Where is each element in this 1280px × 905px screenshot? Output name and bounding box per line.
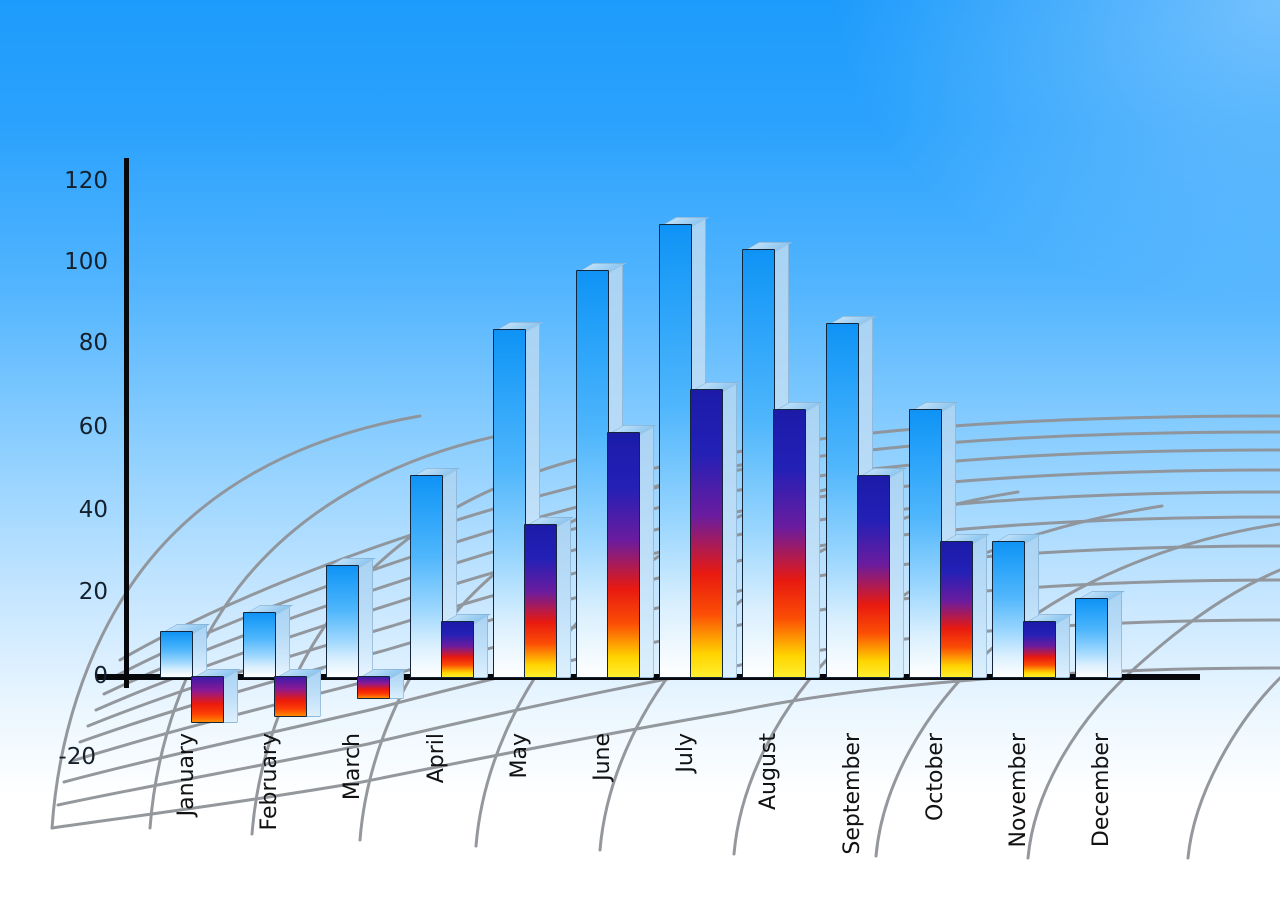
bar-front-face: [160, 631, 193, 678]
bar-may-series2[interactable]: [524, 524, 555, 676]
bar-october-series1[interactable]: [909, 409, 940, 676]
bar-may-series1[interactable]: [493, 329, 524, 676]
bar-july-series2[interactable]: [690, 389, 721, 676]
bar-front-face: [191, 676, 224, 723]
chart-canvas: 120 100 80 60 40 20 0 -20 JanuaryFebruar…: [0, 0, 1280, 905]
bar-front-face: [992, 541, 1025, 678]
bar-front-face: [274, 676, 307, 717]
bar-july-series1[interactable]: [659, 224, 690, 676]
y-tick-label-80: 80: [42, 330, 108, 356]
bar-june-series1[interactable]: [576, 270, 607, 676]
bar-front-face: [410, 475, 443, 678]
y-tick-label-40: 40: [42, 497, 108, 523]
y-tick-label-100: 100: [42, 249, 108, 275]
bar-front-face: [441, 621, 474, 678]
bar-november-series1[interactable]: [992, 541, 1023, 676]
bar-front-face: [857, 475, 890, 678]
bar-front-face: [773, 409, 806, 678]
bar-august-series1[interactable]: [742, 249, 773, 676]
bar-front-face: [1023, 621, 1056, 678]
bar-april-series2[interactable]: [441, 621, 472, 676]
y-tick-label-120: 120: [42, 168, 108, 194]
category-label-february: February: [257, 733, 282, 831]
bar-front-face: [742, 249, 775, 678]
bar-front-face: [909, 409, 942, 678]
bar-front-face: [1075, 598, 1108, 678]
bar-december-series1[interactable]: [1075, 598, 1106, 676]
bar-front-face: [326, 565, 359, 678]
category-label-may: May: [507, 733, 532, 778]
bar-front-face: [607, 432, 640, 678]
category-label-december: December: [1089, 733, 1114, 847]
bar-february-series1[interactable]: [243, 612, 274, 676]
bar-front-face: [826, 323, 859, 678]
bar-march-series1[interactable]: [326, 565, 357, 676]
category-label-august: August: [756, 733, 781, 810]
bar-front-face: [576, 270, 609, 678]
category-label-january: January: [174, 733, 199, 816]
category-label-march: March: [340, 733, 365, 800]
category-label-november: November: [1006, 733, 1031, 847]
bar-august-series2[interactable]: [773, 409, 804, 676]
category-label-june: June: [590, 733, 615, 781]
plot-area: 120 100 80 60 40 20 0 -20 JanuaryFebruar…: [0, 0, 1280, 905]
bar-front-face: [659, 224, 692, 678]
bar-march-series2[interactable]: [357, 676, 388, 697]
bar-january-series2[interactable]: [191, 676, 222, 721]
bar-front-face: [493, 329, 526, 678]
bar-front-face: [690, 389, 723, 678]
category-label-april: April: [424, 733, 449, 783]
bar-january-series1[interactable]: [160, 631, 191, 676]
y-axis-line: [124, 158, 129, 688]
bar-front-face: [940, 541, 973, 678]
y-tick-label-neg20: -20: [30, 744, 96, 770]
bar-april-series1[interactable]: [410, 475, 441, 676]
category-label-october: October: [923, 733, 948, 821]
bar-front-face: [524, 524, 557, 678]
bar-september-series1[interactable]: [826, 323, 857, 676]
bar-september-series2[interactable]: [857, 475, 888, 676]
category-label-july: July: [673, 733, 698, 773]
bar-front-face: [243, 612, 276, 678]
y-tick-label-20: 20: [42, 579, 108, 605]
category-label-september: September: [840, 733, 865, 855]
bar-november-series2[interactable]: [1023, 621, 1054, 676]
bar-february-series2[interactable]: [274, 676, 305, 715]
bar-october-series2[interactable]: [940, 541, 971, 676]
bar-june-series2[interactable]: [607, 432, 638, 676]
bar-front-face: [357, 676, 390, 699]
y-tick-label-60: 60: [42, 414, 108, 440]
y-tick-label-0: 0: [42, 663, 108, 689]
